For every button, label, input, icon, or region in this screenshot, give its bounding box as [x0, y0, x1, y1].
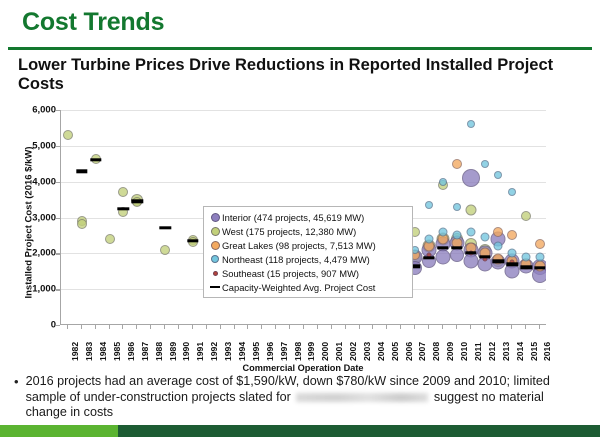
x-tick-label: 2006	[404, 342, 414, 361]
legend-dot-icon	[208, 213, 222, 222]
data-bubble	[453, 203, 461, 211]
bullet-marker: •	[14, 374, 19, 389]
legend-dot-icon	[208, 241, 222, 250]
x-tick-label: 1999	[306, 342, 316, 361]
y-tick-mark	[56, 146, 60, 147]
data-bubble	[522, 252, 531, 261]
x-tick-label: 2015	[529, 342, 539, 361]
x-tick-mark	[539, 325, 540, 329]
legend-dot-icon	[208, 255, 222, 263]
x-tick-label: 2004	[376, 342, 386, 361]
data-bubble	[467, 120, 475, 128]
x-tick-label: 2000	[320, 342, 330, 361]
x-tick-mark	[484, 325, 485, 329]
x-tick-mark	[247, 325, 248, 329]
x-tick-label: 1982	[70, 342, 80, 361]
capacity-weighted-avg-marker	[437, 246, 448, 249]
x-tick-label: 1995	[251, 342, 261, 361]
x-tick-mark	[150, 325, 151, 329]
data-bubble	[508, 249, 517, 258]
data-bubble	[494, 242, 503, 251]
bullet-text: 2016 projects had an average cost of $1,…	[26, 374, 586, 421]
x-tick-mark	[303, 325, 304, 329]
bullet-point: • 2016 projects had an average cost of $…	[14, 374, 586, 421]
x-tick-label: 2005	[390, 342, 400, 361]
y-tick-label: 2,000	[32, 248, 56, 259]
x-tick-label: 2002	[348, 342, 358, 361]
slide-footer-accent	[0, 425, 118, 437]
capacity-weighted-avg-marker	[465, 251, 476, 254]
data-bubble	[438, 227, 447, 236]
x-tick-label: 1996	[265, 342, 275, 361]
data-bubble	[535, 239, 545, 249]
x-tick-mark	[511, 325, 512, 329]
data-bubble	[508, 188, 516, 196]
x-tick-mark	[178, 325, 179, 329]
legend-item[interactable]: Great Lakes (98 projects, 7,513 MW)	[208, 238, 407, 252]
x-tick-mark	[331, 325, 332, 329]
data-bubble	[435, 249, 450, 264]
legend-item[interactable]: Capacity-Weighted Avg. Project Cost	[208, 280, 407, 294]
x-tick-mark	[414, 325, 415, 329]
y-tick-label: 6,000	[32, 105, 56, 116]
legend-item[interactable]: Southeast (15 projects, 907 MW)	[208, 266, 407, 280]
x-tick-label: 1989	[168, 342, 178, 361]
data-bubble	[425, 201, 433, 209]
x-tick-label: 1985	[112, 342, 122, 361]
data-bubble	[63, 130, 73, 140]
data-bubble	[481, 160, 489, 168]
x-tick-label: 2003	[362, 342, 372, 361]
data-bubble	[105, 234, 115, 244]
data-bubble	[494, 171, 502, 179]
capacity-weighted-avg-marker	[118, 207, 129, 210]
legend-item[interactable]: Northeast (118 projects, 4,479 MW)	[208, 252, 407, 266]
x-tick-label: 2013	[501, 342, 511, 361]
legend-label: Interior (474 projects, 45,619 MW)	[222, 212, 364, 223]
x-tick-label: 2011	[473, 342, 483, 361]
slide-title: Cost Trends	[22, 8, 164, 37]
y-tick-label: 5,000	[32, 140, 56, 151]
x-tick-label: 1983	[84, 342, 94, 361]
x-tick-mark	[359, 325, 360, 329]
x-axis-labels: 1982198319841985198619871988198919901991…	[60, 331, 546, 363]
slide-footer-bar	[0, 425, 600, 437]
gridline	[61, 110, 546, 111]
data-bubble	[450, 248, 464, 262]
legend-label: West (175 projects, 12,380 MW)	[222, 226, 356, 237]
x-tick-mark	[95, 325, 96, 329]
x-tick-mark	[317, 325, 318, 329]
x-tick-mark	[67, 325, 68, 329]
x-tick-mark	[386, 325, 387, 329]
x-tick-label: 2010	[459, 342, 469, 361]
x-tick-mark	[206, 325, 207, 329]
capacity-weighted-avg-marker	[187, 239, 198, 242]
x-tick-label: 1994	[237, 342, 247, 361]
data-bubble	[439, 178, 447, 186]
chart-legend: Interior (474 projects, 45,619 MW)West (…	[203, 206, 413, 298]
x-tick-mark	[122, 325, 123, 329]
legend-line-icon	[208, 286, 222, 289]
y-tick-mark	[56, 110, 60, 111]
x-tick-label: 1997	[279, 342, 289, 361]
y-tick-label: 1,000	[32, 284, 56, 295]
capacity-weighted-avg-marker	[76, 170, 87, 173]
x-tick-label: 2014	[515, 342, 525, 361]
x-tick-mark	[345, 325, 346, 329]
x-tick-mark	[109, 325, 110, 329]
capacity-weighted-avg-marker	[520, 266, 531, 269]
data-bubble	[466, 227, 475, 236]
x-tick-mark	[456, 325, 457, 329]
legend-item[interactable]: Interior (474 projects, 45,619 MW)	[208, 210, 407, 224]
x-tick-label: 1986	[126, 342, 136, 361]
capacity-weighted-avg-marker	[479, 255, 490, 258]
title-divider	[8, 47, 592, 50]
legend-label: Great Lakes (98 projects, 7,513 MW)	[222, 240, 376, 251]
y-tick-label: 3,000	[32, 212, 56, 223]
data-bubble	[480, 233, 489, 242]
x-tick-mark	[81, 325, 82, 329]
y-tick-mark	[56, 325, 60, 326]
y-axis-title: Installed Project Cost (2016 $/kW)	[24, 108, 35, 338]
x-tick-label: 1987	[140, 342, 150, 361]
data-bubble	[452, 231, 461, 240]
chart-container: 01,0002,0003,0004,0005,0006,000 Installe…	[6, 100, 594, 368]
capacity-weighted-avg-marker	[132, 200, 143, 203]
x-tick-label: 1984	[98, 342, 108, 361]
x-tick-label: 1990	[181, 342, 191, 361]
capacity-weighted-avg-marker	[451, 246, 462, 249]
data-bubble	[465, 205, 476, 216]
y-tick-label: 4,000	[32, 176, 56, 187]
x-axis-title: Commercial Operation Date	[60, 363, 546, 373]
data-bubble	[536, 252, 545, 261]
x-tick-label: 1998	[293, 342, 303, 361]
x-tick-mark	[497, 325, 498, 329]
gridline	[61, 146, 546, 147]
x-tick-label: 2012	[487, 342, 497, 361]
x-tick-label: 2007	[417, 342, 427, 361]
legend-label: Northeast (118 projects, 4,479 MW)	[222, 254, 370, 265]
capacity-weighted-avg-marker	[90, 158, 101, 161]
x-tick-label: 2001	[334, 342, 344, 361]
x-tick-mark	[442, 325, 443, 329]
x-tick-mark	[136, 325, 137, 329]
data-bubble	[521, 211, 531, 221]
data-bubble	[424, 235, 433, 244]
x-tick-mark	[234, 325, 235, 329]
y-tick-mark	[56, 289, 60, 290]
x-tick-label: 2016	[542, 342, 552, 361]
x-tick-mark	[372, 325, 373, 329]
data-bubble	[118, 187, 128, 197]
x-tick-mark	[428, 325, 429, 329]
chart-title: Lower Turbine Prices Drive Reductions in…	[18, 56, 584, 94]
x-tick-mark	[470, 325, 471, 329]
x-tick-mark	[525, 325, 526, 329]
x-tick-mark	[261, 325, 262, 329]
legend-dot-icon	[208, 227, 222, 236]
x-tick-mark	[400, 325, 401, 329]
legend-dot-icon	[208, 271, 222, 276]
x-tick-mark	[220, 325, 221, 329]
x-tick-label: 2008	[431, 342, 441, 361]
legend-label: Southeast (15 projects, 907 MW)	[222, 268, 359, 279]
x-tick-label: 1993	[223, 342, 233, 361]
data-bubble	[493, 227, 503, 237]
data-bubble	[452, 159, 462, 169]
redacted-text	[296, 393, 428, 402]
legend-item[interactable]: West (175 projects, 12,380 MW)	[208, 224, 407, 238]
data-bubble	[507, 230, 517, 240]
y-tick-mark	[56, 218, 60, 219]
x-tick-mark	[192, 325, 193, 329]
slide-canvas: Cost Trends Lower Turbine Prices Drive R…	[0, 0, 600, 437]
x-tick-label: 1991	[195, 342, 205, 361]
x-tick-mark	[275, 325, 276, 329]
capacity-weighted-avg-marker	[507, 263, 518, 266]
capacity-weighted-avg-marker	[493, 260, 504, 263]
x-tick-mark	[164, 325, 165, 329]
data-bubble	[160, 245, 170, 255]
x-tick-label: 1992	[209, 342, 219, 361]
capacity-weighted-avg-marker	[159, 226, 170, 229]
capacity-weighted-avg-marker	[534, 266, 545, 269]
x-tick-mark	[289, 325, 290, 329]
legend-label: Capacity-Weighted Avg. Project Cost	[222, 282, 375, 293]
data-bubble	[77, 219, 87, 229]
y-tick-mark	[56, 253, 60, 254]
x-tick-label: 1988	[154, 342, 164, 361]
x-tick-label: 2009	[445, 342, 455, 361]
data-bubble	[462, 169, 480, 187]
y-tick-mark	[56, 182, 60, 183]
capacity-weighted-avg-marker	[423, 256, 434, 259]
